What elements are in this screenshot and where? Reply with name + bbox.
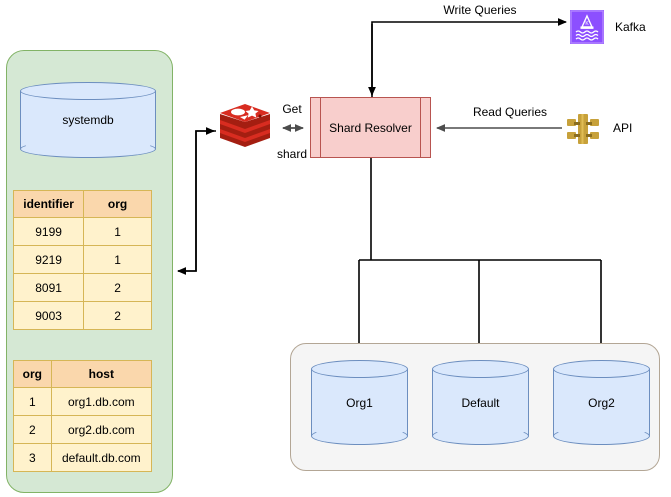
cell-org: 2 xyxy=(84,274,152,302)
shard-db-label: Org2 xyxy=(553,396,650,410)
cylinder-bottom xyxy=(553,427,650,445)
table-header-row: org host xyxy=(14,361,152,388)
shard-resolver-node[interactable]: Shard Resolver xyxy=(310,97,431,158)
cylinder-bottom xyxy=(311,427,408,445)
org-host-table: org host 1 org1.db.com 2 org2.db.com 3 d… xyxy=(13,360,152,472)
edge-cache-to-systemdb xyxy=(178,131,216,271)
table-row: 3 default.db.com xyxy=(14,444,152,472)
cylinder-top xyxy=(20,82,156,100)
table-row: 2 org2.db.com xyxy=(14,416,152,444)
shard-db-label: Org1 xyxy=(311,396,408,410)
api-label: API xyxy=(613,121,632,135)
cell-org: 2 xyxy=(84,302,152,330)
cell-org: 3 xyxy=(14,444,52,472)
shard-db-org1: Org1 xyxy=(311,360,408,445)
cell-org: 1 xyxy=(84,218,152,246)
systemdb-cylinder: systemdb xyxy=(20,82,156,158)
shard-db-default: Default xyxy=(432,360,529,445)
diagram-canvas: systemdb identifier org 9199 1 9219 1 80… xyxy=(0,0,671,497)
cell-identifier: 8091 xyxy=(14,274,84,302)
cell-host: org1.db.com xyxy=(51,388,151,416)
column-header-identifier: identifier xyxy=(14,191,84,218)
edge-systemdb-to-cache xyxy=(178,131,214,271)
table-row: 8091 2 xyxy=(14,274,152,302)
shard-resolver-label: Shard Resolver xyxy=(329,121,412,135)
column-header-host: host xyxy=(51,361,151,388)
cell-host: default.db.com xyxy=(51,444,151,472)
systemdb-label: systemdb xyxy=(20,113,156,127)
cell-identifier: 9003 xyxy=(14,302,84,330)
table-header-row: identifier org xyxy=(14,191,152,218)
cell-identifier: 9199 xyxy=(14,218,84,246)
table-row: 9199 1 xyxy=(14,218,152,246)
shard-db-label: Default xyxy=(432,396,529,410)
process-bar-left xyxy=(320,98,321,157)
cylinder-bottom xyxy=(432,427,529,445)
write-queries-edge-label: Write Queries xyxy=(405,3,555,18)
column-header-org: org xyxy=(84,191,152,218)
kafka-icon: K xyxy=(570,10,604,44)
edge-write-queries xyxy=(372,22,566,97)
api-icon xyxy=(564,110,602,148)
cylinder-top xyxy=(553,360,650,378)
table-row: 9219 1 xyxy=(14,246,152,274)
cell-identifier: 9219 xyxy=(14,246,84,274)
read-queries-edge-label: Read Queries xyxy=(450,105,570,120)
cylinder-top xyxy=(311,360,408,378)
table-row: 9003 2 xyxy=(14,302,152,330)
process-bar-right xyxy=(420,98,421,157)
shard-db-org2: Org2 xyxy=(553,360,650,445)
cell-org: 2 xyxy=(14,416,52,444)
table-row: 1 org1.db.com xyxy=(14,388,152,416)
cell-host: org2.db.com xyxy=(51,416,151,444)
cell-org: 1 xyxy=(84,246,152,274)
identifier-org-table: identifier org 9199 1 9219 1 8091 2 9003… xyxy=(13,190,152,330)
cylinder-bottom xyxy=(20,140,156,158)
kafka-label: Kafka xyxy=(615,20,646,34)
cylinder-top xyxy=(432,360,529,378)
cell-org: 1 xyxy=(14,388,52,416)
column-header-org: org xyxy=(14,361,52,388)
